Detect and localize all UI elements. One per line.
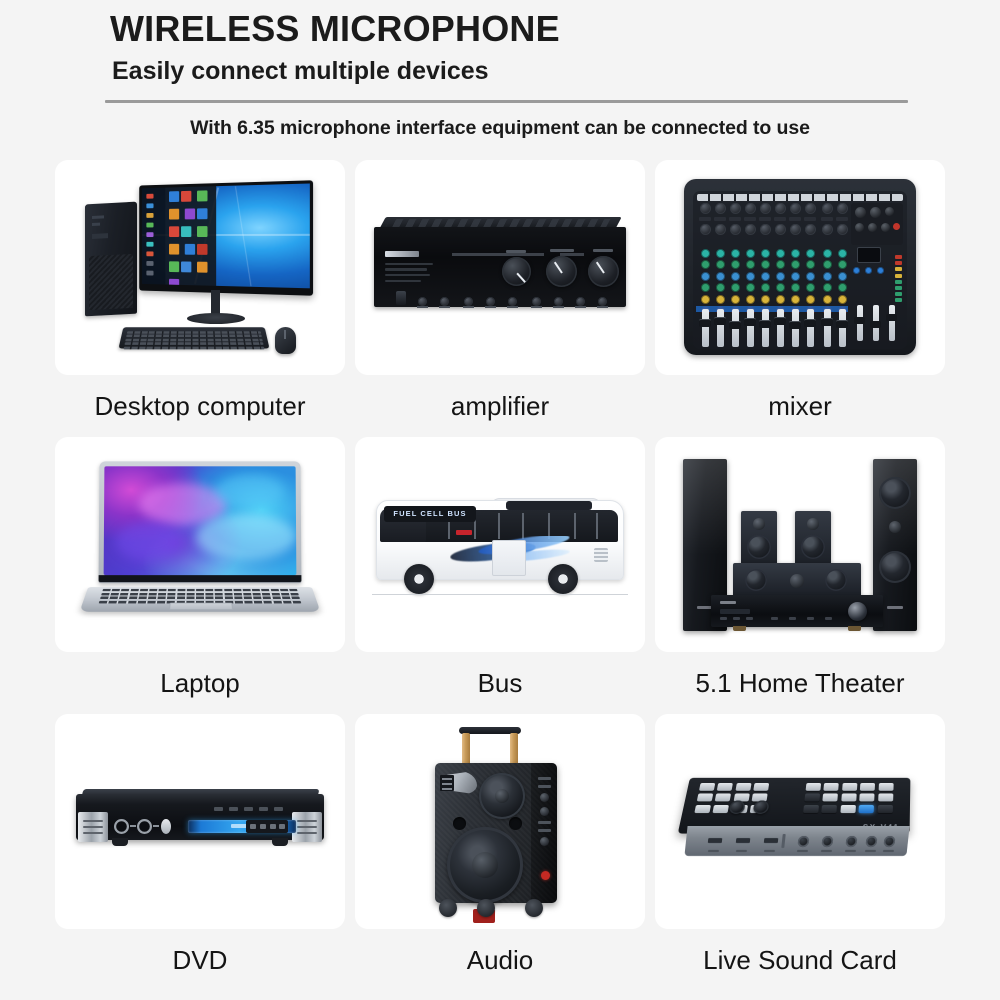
device-label: Audio — [355, 929, 645, 991]
device-card[interactable] — [55, 437, 345, 652]
device-grid: Desktop computer — [55, 160, 945, 991]
device-card[interactable] — [655, 160, 945, 375]
header: WIRELESS MICROPHONE Easily connect multi… — [0, 0, 1000, 140]
device-cell-bus[interactable]: FUEL CELL BUS Bus — [355, 437, 645, 714]
page-subtitle: Easily connect multiple devices — [112, 54, 1000, 88]
device-label: Desktop computer — [55, 375, 345, 437]
audio-mixer-icon — [684, 175, 916, 360]
product-infographic: WIRELESS MICROPHONE Easily connect multi… — [0, 0, 1000, 1000]
device-cell-live-sound-card[interactable]: SX-V41 Live Sou — [655, 714, 945, 991]
device-card[interactable] — [655, 437, 945, 652]
device-card[interactable] — [55, 160, 345, 375]
divider — [105, 100, 908, 103]
device-card[interactable]: SX-V41 — [655, 714, 945, 929]
live-sound-card-icon: SX-V41 — [684, 768, 916, 876]
device-card[interactable] — [355, 160, 645, 375]
page-title: WIRELESS MICROPHONE — [110, 6, 1000, 52]
laptop-icon — [76, 461, 324, 629]
device-label: DVD — [55, 929, 345, 991]
device-cell-audio[interactable]: Audio — [355, 714, 645, 991]
device-cell-dvd[interactable]: DVD — [55, 714, 345, 991]
device-cell-desktop-computer[interactable]: Desktop computer — [55, 160, 345, 437]
device-card[interactable]: FUEL CELL BUS — [355, 437, 645, 652]
device-cell-amplifier[interactable]: amplifier — [355, 160, 645, 437]
device-card[interactable] — [55, 714, 345, 929]
device-card[interactable] — [355, 714, 645, 929]
bus-icon: FUEL CELL BUS — [372, 484, 628, 606]
device-label: Live Sound Card — [655, 929, 945, 991]
trolley-speaker-icon — [425, 727, 575, 917]
device-label: Bus — [355, 652, 645, 714]
device-label: mixer — [655, 375, 945, 437]
device-cell-laptop[interactable]: Laptop — [55, 437, 345, 714]
home-theater-icon — [677, 455, 923, 635]
amplifier-icon — [374, 213, 626, 323]
desktop-computer-icon — [75, 175, 325, 360]
tagline: With 6.35 microphone interface equipment… — [0, 117, 1000, 140]
device-cell-home-theater[interactable]: 5.1 Home Theater — [655, 437, 945, 714]
device-label: Laptop — [55, 652, 345, 714]
device-cell-mixer[interactable]: mixer — [655, 160, 945, 437]
bus-destination-text: FUEL CELL BUS — [384, 506, 476, 522]
device-label: amplifier — [355, 375, 645, 437]
bus-destination-sign: FUEL CELL BUS — [384, 506, 476, 522]
device-label: 5.1 Home Theater — [655, 652, 945, 714]
dvd-player-icon — [76, 786, 324, 858]
